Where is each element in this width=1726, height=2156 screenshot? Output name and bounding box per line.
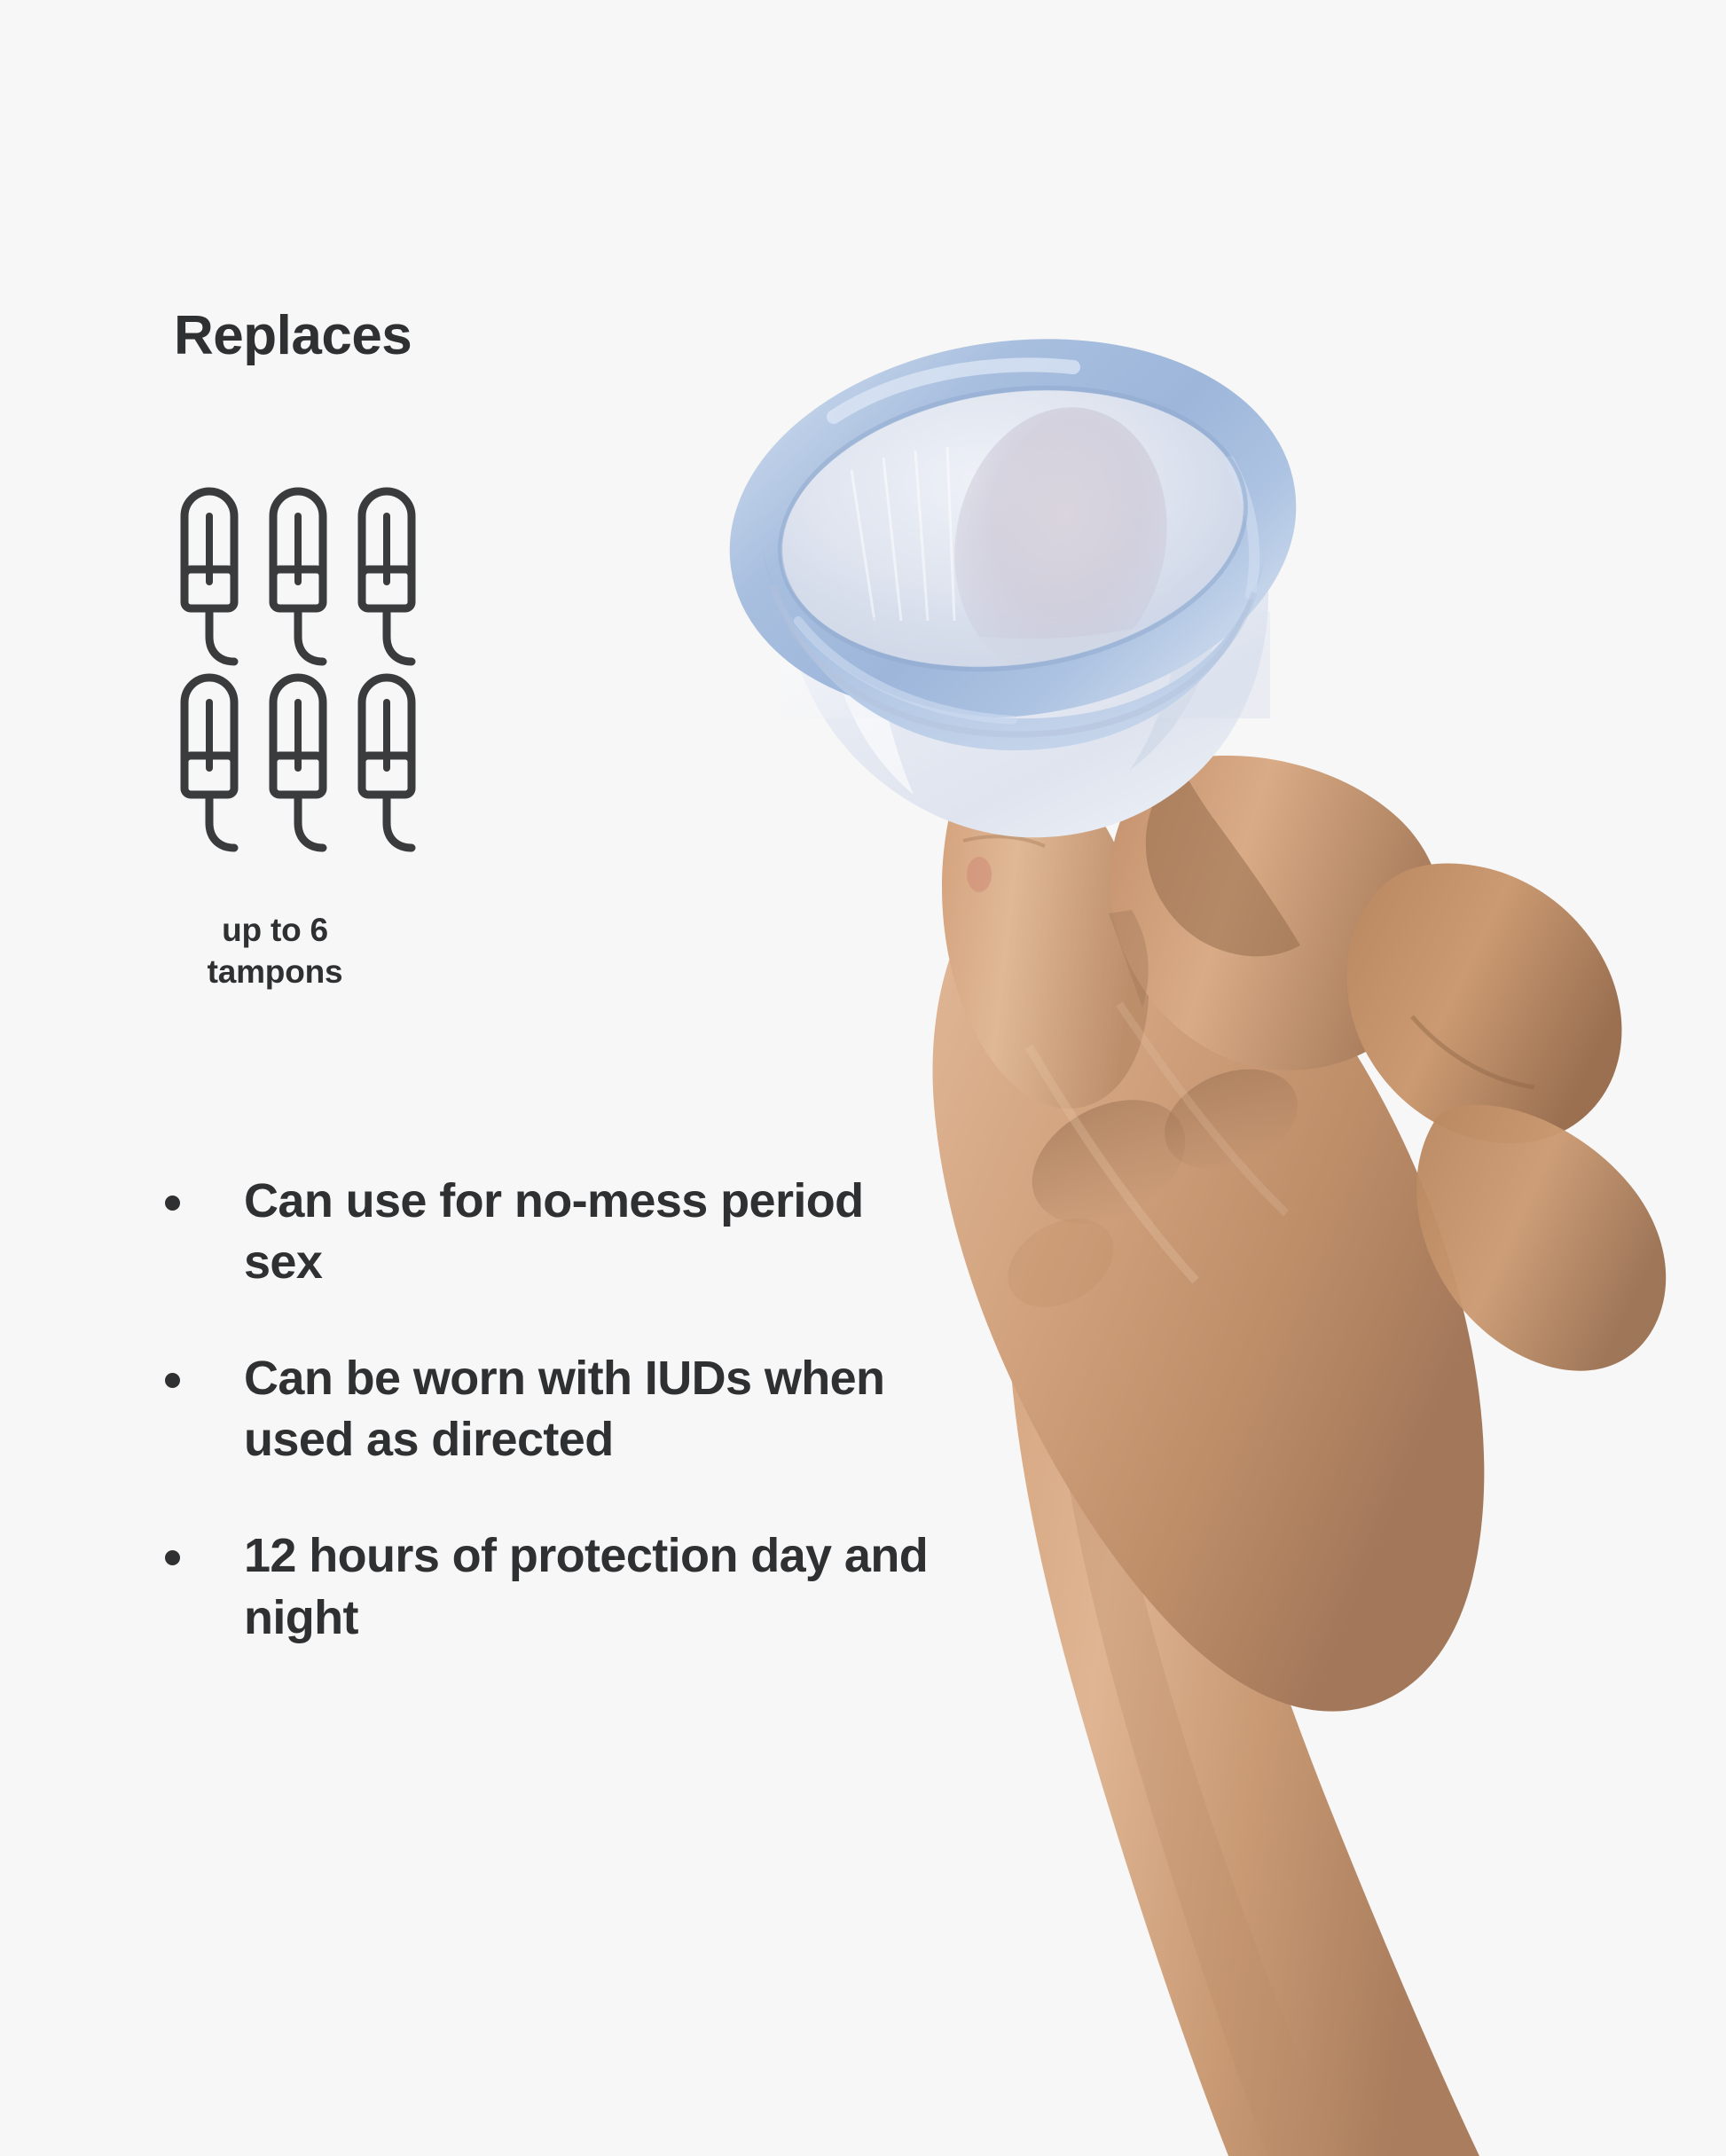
- forearm-shadow: [1051, 1348, 1341, 2156]
- tampon-icon: [351, 484, 440, 670]
- bullet-dot-icon: [165, 1196, 180, 1211]
- middle-finger: [1110, 756, 1443, 1070]
- caption-line-1: up to 6: [142, 909, 408, 951]
- list-item: Can use for no-mess period sex: [165, 1171, 1034, 1293]
- list-item-label: Can be worn with IUDs when used as direc…: [244, 1348, 945, 1470]
- forearm: [1009, 1268, 1479, 2156]
- list-item: 12 hours of protection day and night: [165, 1525, 1034, 1648]
- tampon-icon: [263, 670, 351, 857]
- cup-rim: [734, 333, 1292, 725]
- caption-line-2: tampons: [142, 951, 408, 992]
- tampon-icon: [174, 484, 263, 670]
- bullet-dot-icon: [165, 1550, 180, 1565]
- infographic-canvas: Replaces: [0, 0, 1726, 2156]
- tampon-icon: [174, 670, 263, 857]
- little-finger: [1416, 1105, 1666, 1371]
- middle-finger-shadow: [1146, 768, 1300, 956]
- tampon-icon-grid: [174, 484, 440, 857]
- list-item: Can be worn with IUDs when used as direc…: [165, 1348, 1034, 1470]
- index-finger: [942, 755, 1149, 1109]
- bullet-dot-icon: [165, 1373, 180, 1388]
- benefits-list: Can use for no-mess period sex Can be wo…: [165, 1171, 1034, 1649]
- tampon-icon: [351, 670, 440, 857]
- cup-bowl: [781, 543, 1268, 837]
- tampon-count-caption: up to 6 tampons: [142, 909, 408, 993]
- tampon-icon: [263, 484, 351, 670]
- list-item-label: Can use for no-mess period sex: [244, 1171, 945, 1293]
- page-title: Replaces: [174, 309, 412, 364]
- ring-finger: [1347, 864, 1622, 1144]
- cup-rim-front: [761, 543, 1265, 750]
- list-item-label: 12 hours of protection day and night: [244, 1525, 945, 1648]
